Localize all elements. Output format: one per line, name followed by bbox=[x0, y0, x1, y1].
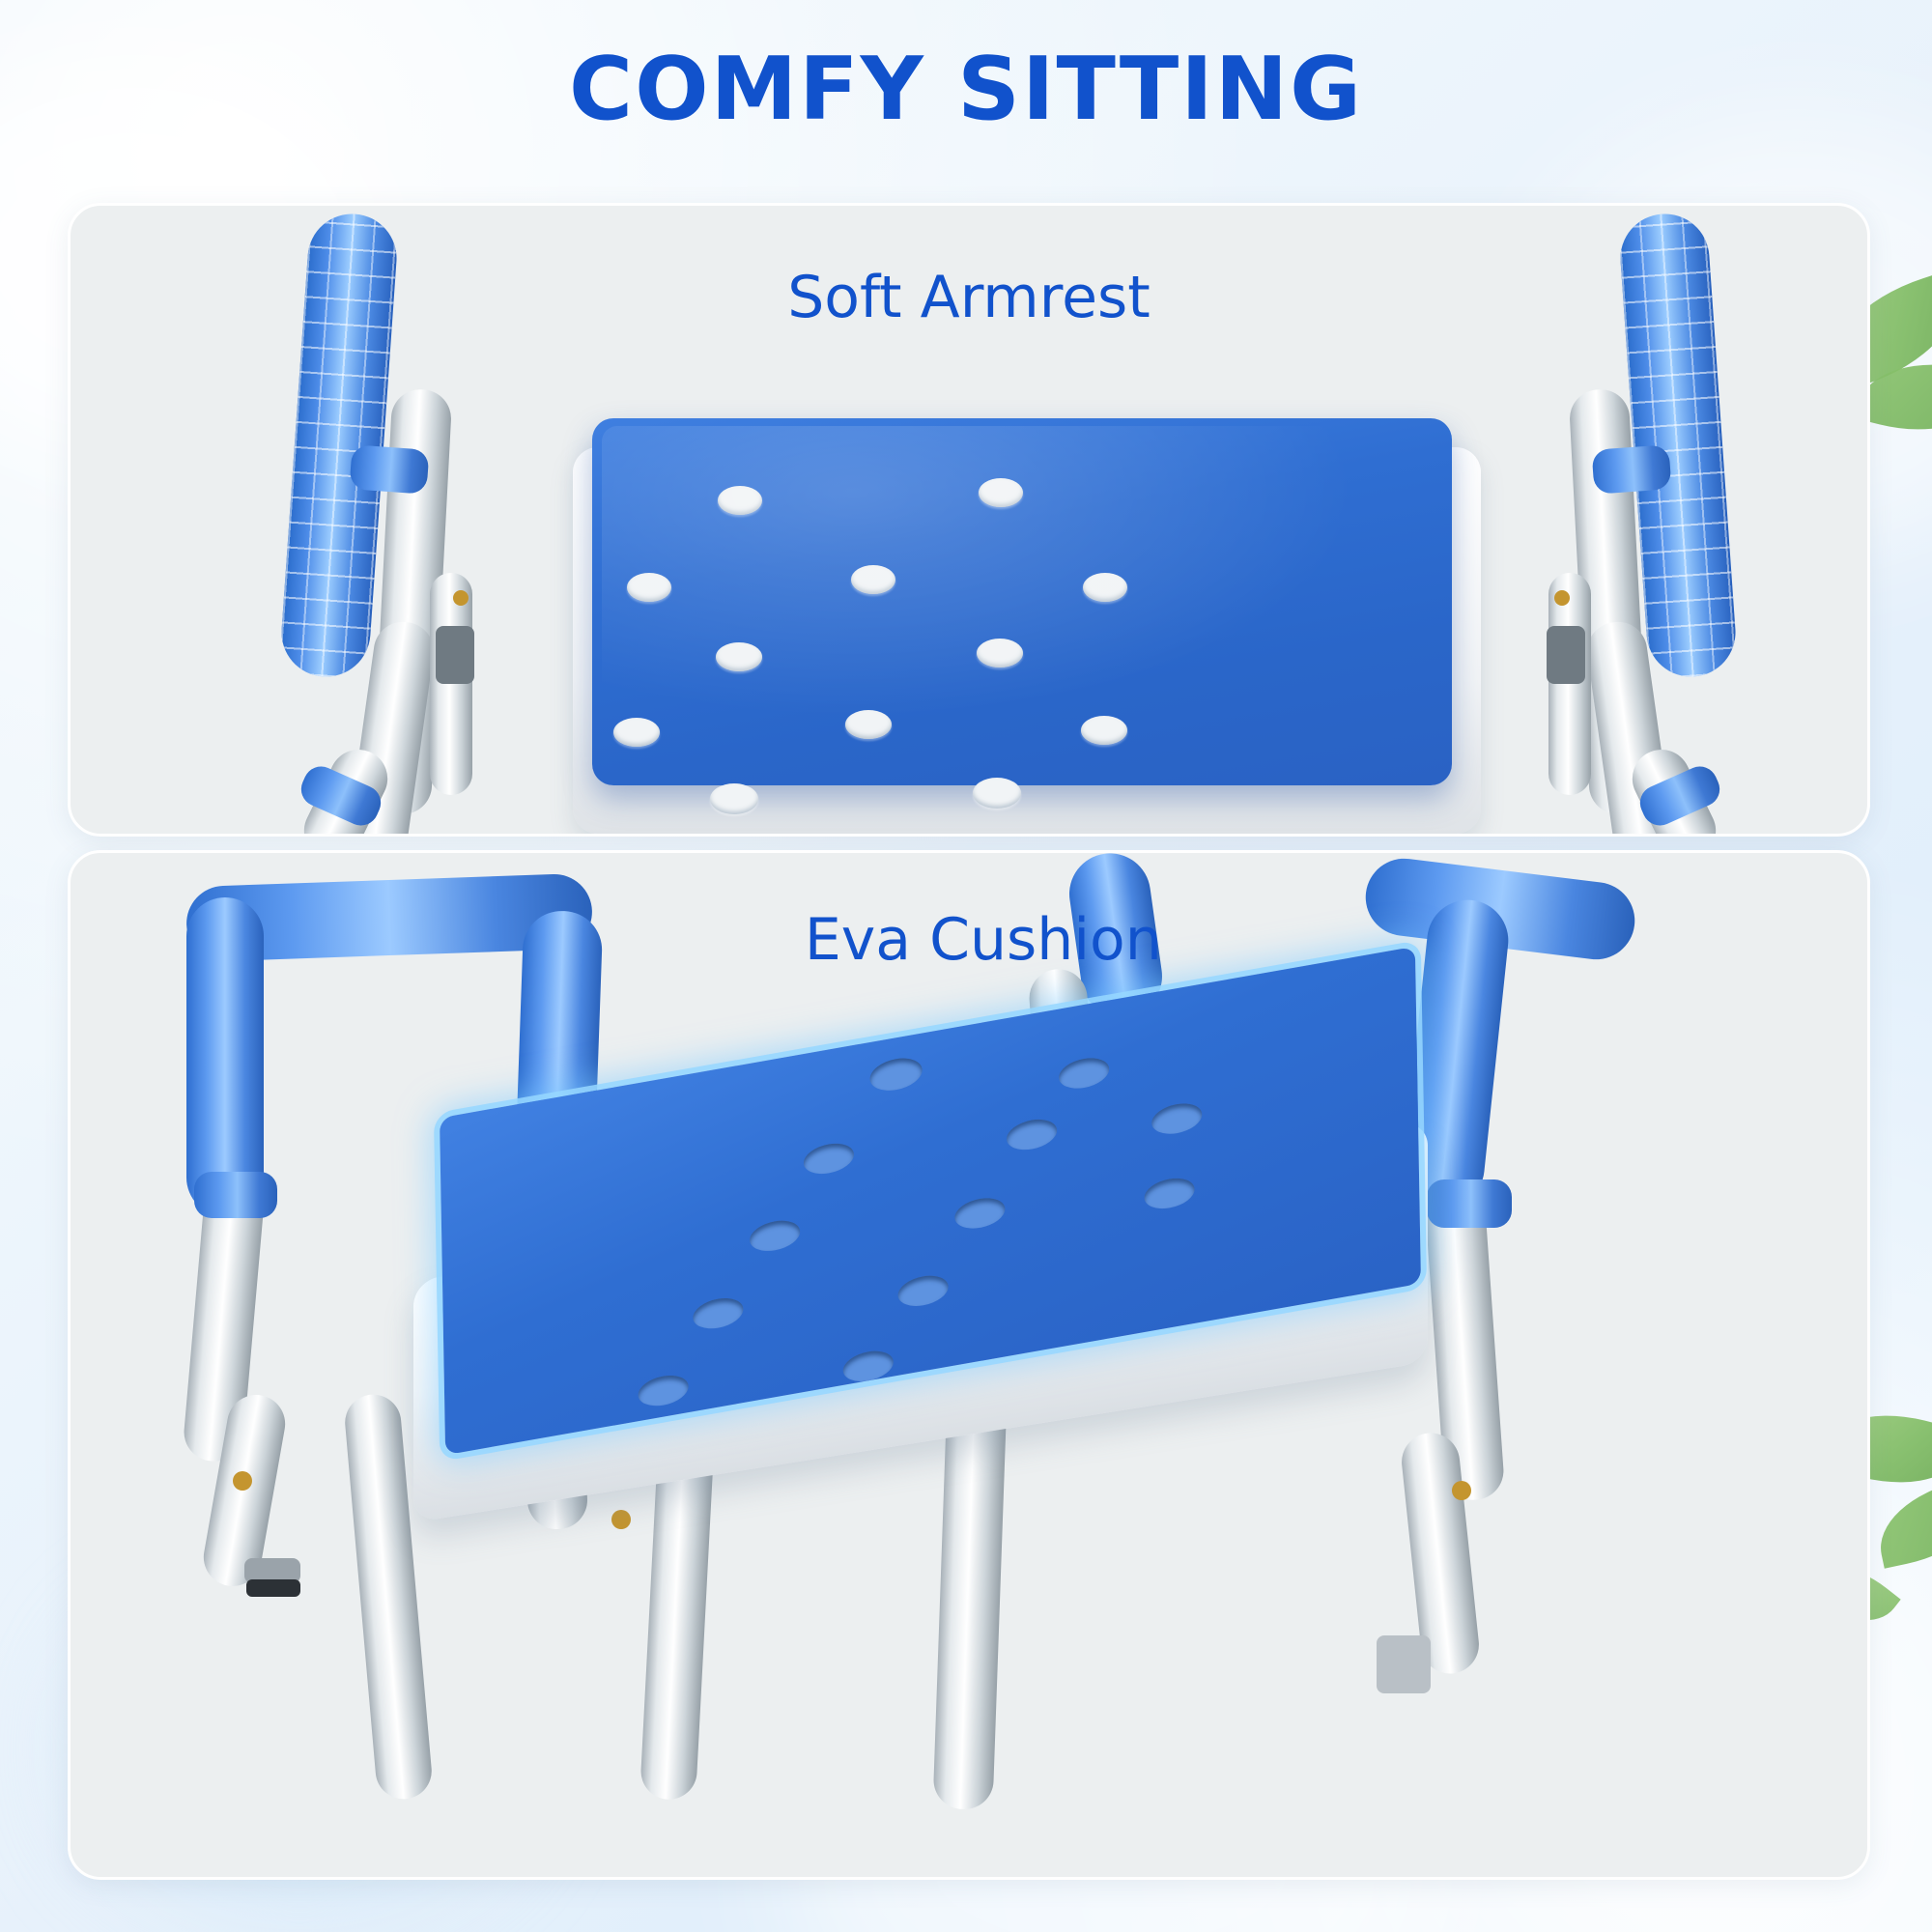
right-frame-bracket bbox=[1548, 573, 1591, 795]
left-frame-bracket bbox=[430, 573, 472, 795]
cushion-hole bbox=[718, 486, 762, 515]
left-clamp bbox=[436, 626, 474, 684]
page-title: COMFY SITTING bbox=[0, 39, 1932, 140]
leaf-decoration-icon bbox=[1870, 1476, 1932, 1568]
left-screw-icon bbox=[453, 590, 469, 606]
panel-eva-cushion: Eva Cushion bbox=[68, 850, 1870, 1880]
right-screw-icon bbox=[1452, 1481, 1471, 1500]
cushion-hole bbox=[845, 710, 892, 739]
cushion-hole bbox=[897, 1272, 949, 1310]
center-rear-leg bbox=[933, 1393, 1008, 1810]
product-feature-image: COMFY SITTING Soft Armrest bbox=[0, 0, 1932, 1932]
cushion-hole bbox=[1151, 1100, 1203, 1138]
cushion-hole bbox=[1059, 1054, 1110, 1092]
right-post-ring bbox=[1427, 1179, 1512, 1228]
cushion-hole bbox=[979, 478, 1023, 507]
panel-label-soft-armrest: Soft Armrest bbox=[787, 264, 1151, 331]
left-post-ring bbox=[194, 1172, 277, 1218]
right-clamp bbox=[1547, 626, 1585, 684]
right-foot bbox=[1377, 1635, 1431, 1693]
cushion-hole bbox=[1007, 1116, 1058, 1153]
cushion-hole bbox=[710, 783, 758, 814]
cushion-hole bbox=[869, 1055, 923, 1094]
cushion-hole bbox=[613, 718, 660, 747]
panel-label-eva-cushion: Eva Cushion bbox=[805, 906, 1162, 974]
cushion-hole bbox=[750, 1217, 801, 1255]
cushion-hole bbox=[1083, 573, 1127, 602]
cushion-hole bbox=[851, 565, 895, 594]
left-screw-icon bbox=[233, 1471, 252, 1491]
cushion-hole bbox=[1144, 1175, 1195, 1212]
center-screw-icon bbox=[611, 1510, 631, 1529]
cushion-hole bbox=[1081, 716, 1127, 745]
left-armrest-front-grip bbox=[186, 897, 264, 1216]
panel-soft-armrest: Soft Armrest bbox=[68, 203, 1870, 837]
cushion-hole bbox=[973, 778, 1021, 809]
right-screw-icon bbox=[1554, 590, 1570, 606]
cushion-hole bbox=[804, 1140, 855, 1178]
left-foot-pad bbox=[246, 1579, 300, 1597]
cushion-hole bbox=[977, 639, 1023, 668]
cushion-hole bbox=[954, 1194, 1006, 1232]
cushion-hole bbox=[638, 1372, 689, 1409]
cushion-hole bbox=[627, 573, 671, 602]
cushion-hole bbox=[693, 1294, 744, 1332]
right-arm-ring bbox=[1591, 444, 1671, 494]
cushion-hole bbox=[716, 642, 762, 671]
seat-cushion-eva bbox=[592, 418, 1452, 785]
left-arm-ring bbox=[349, 444, 429, 494]
